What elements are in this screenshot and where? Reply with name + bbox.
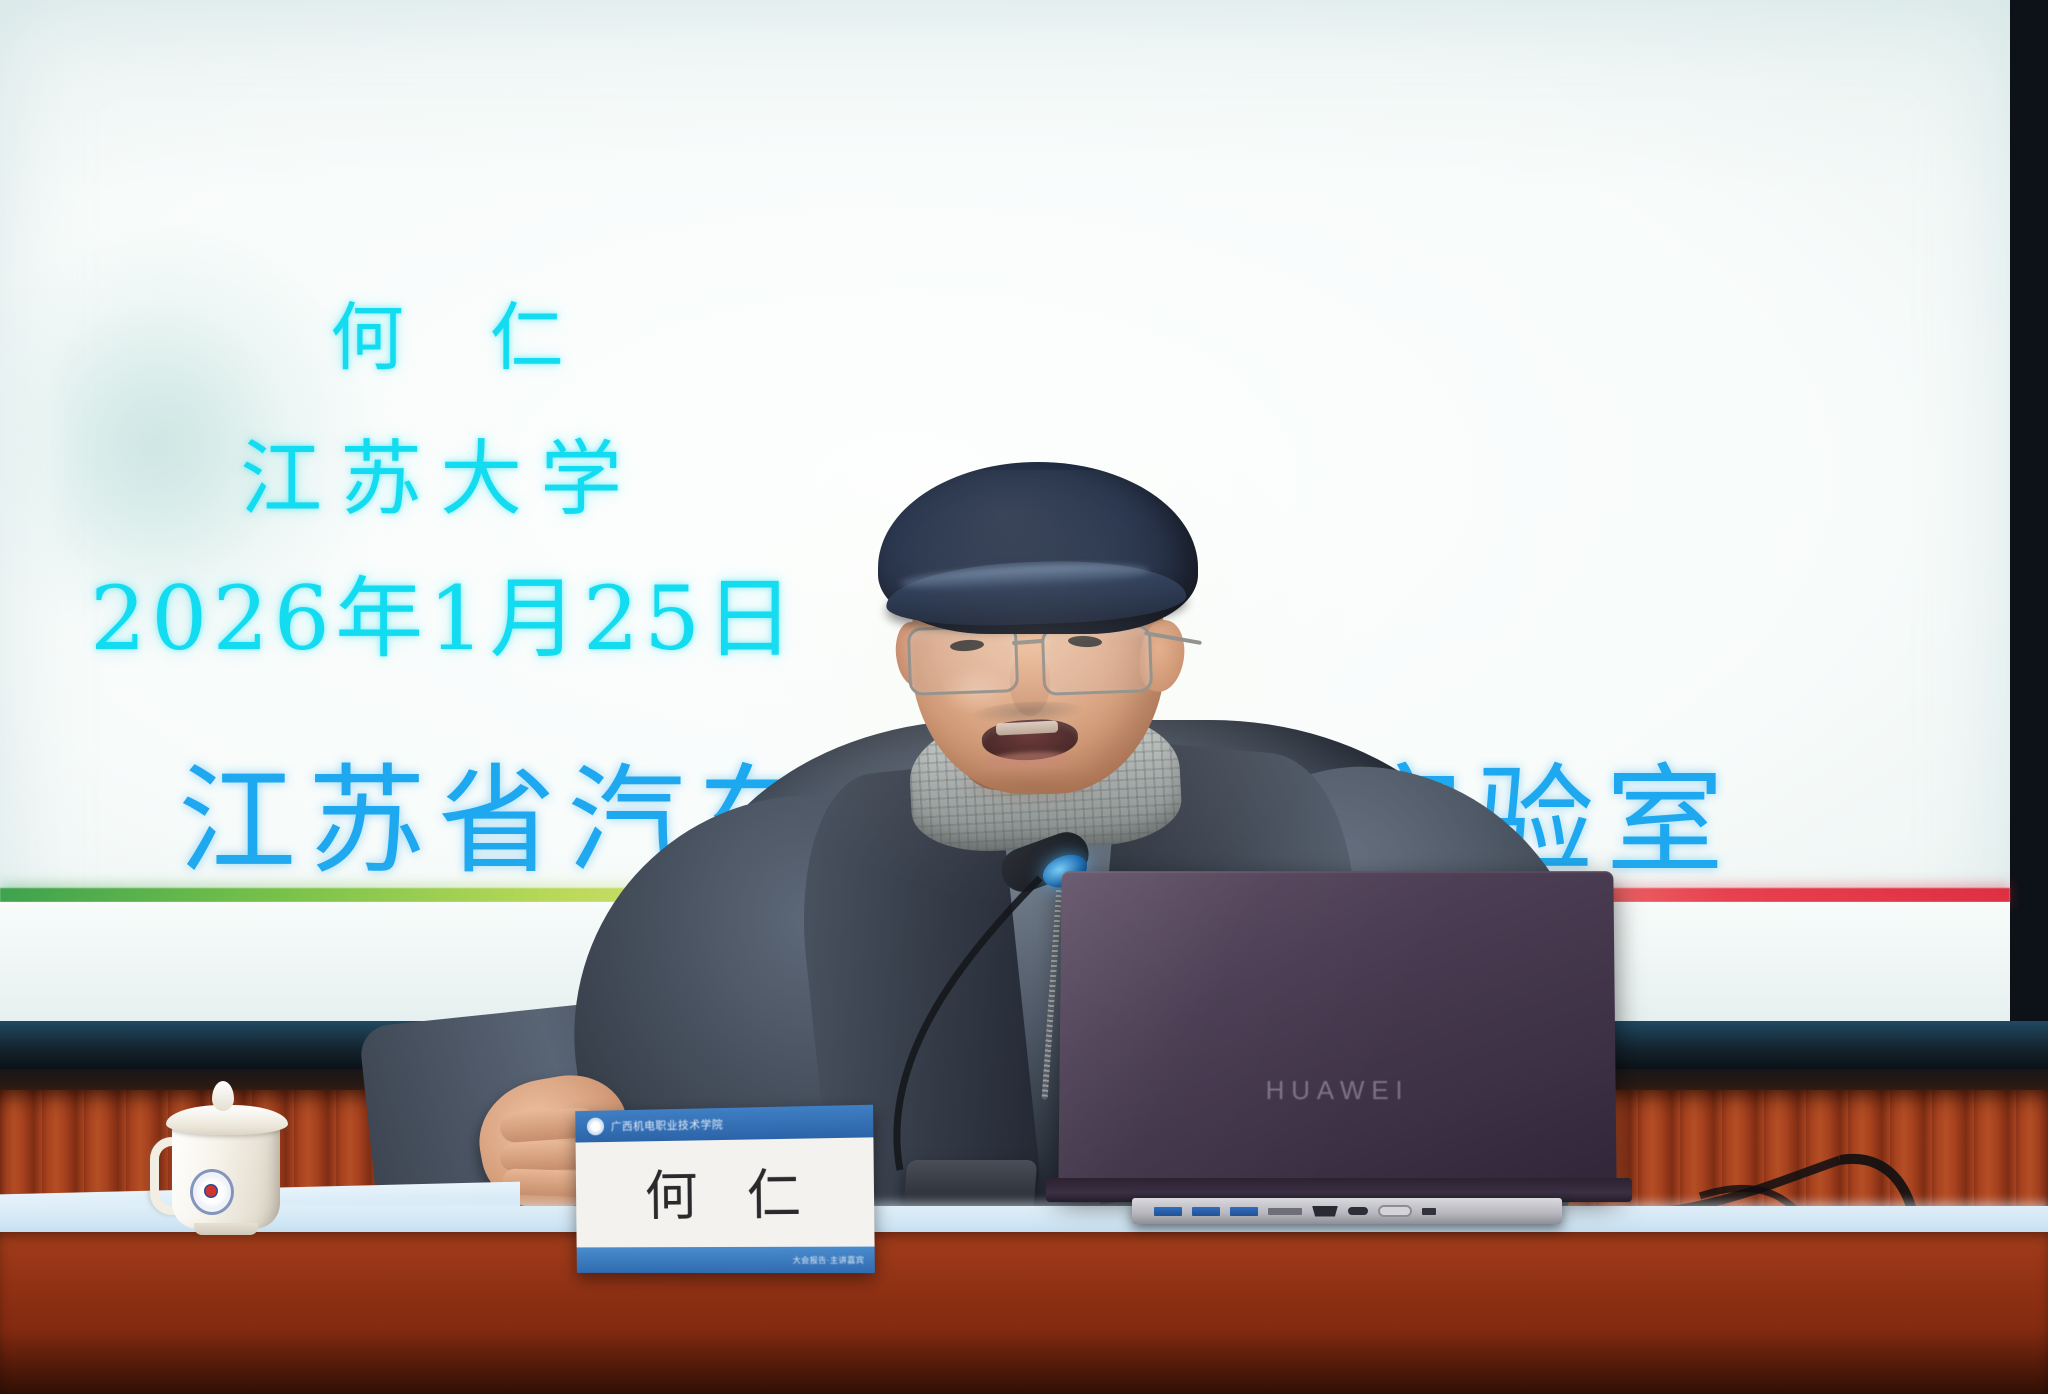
usb-port[interactable] (1192, 1207, 1220, 1216)
audio-port[interactable] (1422, 1208, 1436, 1215)
usb-port[interactable] (1230, 1207, 1258, 1216)
usb-c-port[interactable] (1348, 1207, 1368, 1215)
slide-date: 2026年1月25日 (90, 548, 799, 675)
slide-speaker-name: 何 仁 (330, 278, 595, 385)
eyeglass-left-lens (907, 624, 1019, 696)
sd-card-slot[interactable] (1268, 1208, 1302, 1215)
teacup-foot (194, 1223, 258, 1235)
eyeglass-bridge (1012, 639, 1044, 645)
placard-subtitle: 大会报告·主讲嘉宾 (793, 1254, 865, 1265)
teacup-emblem-icon (190, 1169, 234, 1215)
slide-affiliation: 江苏大学 (240, 412, 640, 531)
presenter-chin-shadow (956, 766, 1106, 806)
teacup[interactable] (150, 1075, 310, 1235)
name-placard[interactable]: 广西机电职业技术学院 何 仁 大会报告·主讲嘉宾 (575, 1105, 875, 1273)
laptop-docking-station[interactable] (1132, 1198, 1562, 1224)
placard-name: 何 仁 (576, 1141, 875, 1236)
laptop-lid-sheen (1058, 871, 1616, 1193)
desk-shadow (0, 1330, 2048, 1394)
usb-port[interactable] (1154, 1207, 1182, 1216)
placard-organization: 广西机电职业技术学院 (611, 1116, 724, 1134)
placard-footer-bar: 大会报告·主讲嘉宾 (577, 1247, 875, 1274)
teacup-lid-knob (212, 1081, 234, 1111)
eyeglass-right-lens (1041, 624, 1153, 696)
laptop[interactable]: HUAWEI (1040, 870, 1640, 1250)
screenshot-root: 何 仁 江苏大学 2026年1月25日 江苏省汽车工程重点实验室 (0, 0, 2048, 1394)
institution-logo-icon (587, 1117, 604, 1135)
hdmi-port[interactable] (1312, 1206, 1338, 1217)
vga-port[interactable] (1378, 1205, 1412, 1217)
eyeglass-temple-arm (1144, 631, 1202, 645)
laptop-lid: HUAWEI (1058, 871, 1616, 1193)
laptop-brand-logo: HUAWEI (1059, 1075, 1616, 1106)
placard-header-bar: 广西机电职业技术学院 (575, 1105, 873, 1143)
